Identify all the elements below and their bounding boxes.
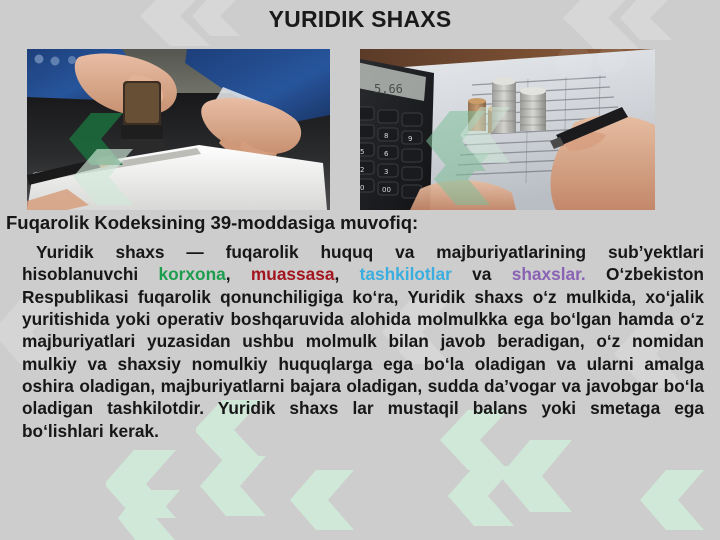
slide-body: Fuqarolik Kodeksining 39-moddasiga muvof… — [0, 211, 720, 442]
definition-paragraph: Yuridik shaxs — fuqarolik huquq va majbu… — [0, 241, 720, 442]
svg-text:0: 0 — [360, 184, 364, 192]
watermark-chevron-green-6 — [640, 470, 720, 540]
stamping-document-photo — [27, 49, 330, 210]
watermark-chevron-green-5 — [290, 470, 390, 540]
calculator-coins-ledger-photo: 5.66 89 56 23 — [360, 49, 655, 210]
watermark-chevron-green-4 — [500, 440, 620, 540]
para-sep-2: , — [334, 264, 359, 284]
svg-text:5.66: 5.66 — [374, 82, 403, 96]
highlight-muassasa: muassasa — [251, 264, 335, 284]
para-part-2: va — [452, 264, 512, 284]
watermark-chevron-green-1 — [106, 450, 216, 540]
para-part-3: O‘zbekiston Respublikasi fuqarolik qonun… — [22, 264, 704, 440]
svg-text:5: 5 — [360, 148, 364, 156]
lead-line: Fuqarolik Kodeksining 39-moddasiga muvof… — [0, 211, 720, 235]
svg-text:9: 9 — [408, 135, 412, 143]
highlight-tashkilotlar: tashkilotlar — [360, 264, 452, 284]
highlight-shaxslar: shaxslar. — [512, 264, 586, 284]
svg-text:6: 6 — [384, 150, 389, 158]
svg-text:3: 3 — [384, 168, 388, 176]
svg-text:8: 8 — [384, 132, 388, 140]
slide-title: YURIDIK SHAXS — [0, 6, 720, 33]
highlight-korxona: korxona — [159, 264, 226, 284]
svg-text:2: 2 — [360, 166, 364, 174]
para-sep-1: , — [226, 264, 251, 284]
svg-text:00: 00 — [382, 186, 391, 194]
